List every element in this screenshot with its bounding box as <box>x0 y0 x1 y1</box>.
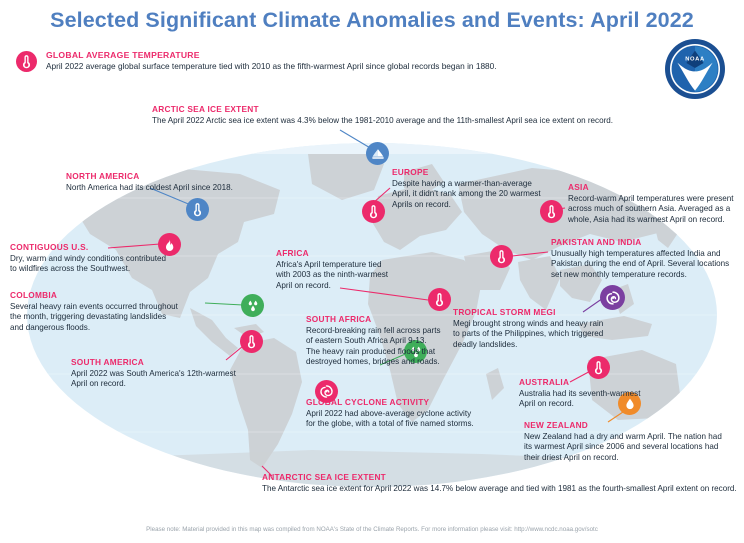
thermometer-icon <box>362 200 385 223</box>
annotation-body: April 2022 was South America's 12th-warm… <box>71 369 236 390</box>
annotation-body-line: Record-breaking rain fell across parts <box>306 326 441 336</box>
annotation-body-line: Africa's April temperature tied <box>276 260 388 270</box>
annotation-body: The April 2022 Arctic sea ice extent was… <box>152 116 613 126</box>
noaa-logo-text: NOAA <box>685 57 705 63</box>
thermometer-icon <box>16 51 37 72</box>
annotation-heading: TROPICAL STORM MEGI <box>453 308 603 318</box>
global-temperature-body: April 2022 average global surface temper… <box>46 61 536 71</box>
annotation-body-line: for the globe, with a total of five name… <box>306 419 474 429</box>
annotation-europe: EUROPE Despite having a warmer-than-aver… <box>392 168 541 210</box>
annotation-arctic-sea-ice-extent: ARCTIC SEA ICE EXTENT The April 2022 Arc… <box>152 105 613 126</box>
annotation-body: Africa's April temperature tied with 200… <box>276 260 388 291</box>
annotation-body-line: Australia had its seventh-warmest <box>519 389 640 399</box>
annotation-body-line: April, it didn't rank among the 20 warme… <box>392 189 541 199</box>
annotation-body: Record-breaking rain fell across parts o… <box>306 326 441 367</box>
annotation-heading: PAKISTAN AND INDIA <box>551 238 729 248</box>
annotation-body: Despite having a warmer-than-average Apr… <box>392 179 541 210</box>
annotation-heading: COLOMBIA <box>10 291 178 301</box>
annotation-heading: GLOBAL CYCLONE ACTIVITY <box>306 398 474 408</box>
annotation-body-line: deadly landslides. <box>453 340 603 350</box>
annotation-south-africa: SOUTH AFRICA Record-breaking rain fell a… <box>306 315 441 367</box>
annotation-pakistan-and-india: PAKISTAN AND INDIA Unusually high temper… <box>551 238 729 280</box>
annotation-body: New Zealand had a dry and warm April. Th… <box>524 432 722 463</box>
annotation-heading: EUROPE <box>392 168 541 178</box>
annotation-body-line: The heavy rain produced floods that <box>306 347 441 357</box>
annotation-body: The Antarctic sea ice extent for April 2… <box>262 484 737 494</box>
annotation-heading: ANTARCTIC SEA ICE EXTENT <box>262 473 737 483</box>
annotation-body-line: with 2003 as the ninth-warmest <box>276 270 388 280</box>
annotation-new-zealand: NEW ZEALAND New Zealand had a dry and wa… <box>524 421 722 463</box>
annotation-antarctic-sea-ice-extent: ANTARCTIC SEA ICE EXTENT The Antarctic s… <box>262 473 737 494</box>
annotation-heading: NORTH AMERICA <box>66 172 233 182</box>
annotation-global-cyclone-activity: GLOBAL CYCLONE ACTIVITY April 2022 had a… <box>306 398 474 430</box>
annotation-body-line: April 2022 had above-average cyclone act… <box>306 409 474 419</box>
annotation-body-line: destroyed homes, bridges and roads. <box>306 357 441 367</box>
annotation-body-line: whole, Asia had its warmest April on rec… <box>568 215 734 225</box>
annotation-tropical-storm-megi: TROPICAL STORM MEGI Megi brought strong … <box>453 308 603 350</box>
annotation-heading: AFRICA <box>276 249 388 259</box>
thermometer-icon <box>587 356 610 379</box>
annotation-body-line: April 2022 was South America's 12th-warm… <box>71 369 236 379</box>
annotation-heading: SOUTH AMERICA <box>71 358 236 368</box>
annotation-body-line: their driest April on record. <box>524 453 722 463</box>
annotation-contiguous-us: CONTIGUOUS U.S. Dry, warm and windy cond… <box>10 243 166 275</box>
thermometer-icon <box>490 245 513 268</box>
annotation-heading: NEW ZEALAND <box>524 421 722 431</box>
annotation-heading: AUSTRALIA <box>519 378 640 388</box>
footer-note: Please note: Material provided in this m… <box>0 526 744 533</box>
annotation-colombia: COLOMBIA Several heavy rain events occur… <box>10 291 178 333</box>
annotation-body: April 2022 had above-average cyclone act… <box>306 409 474 430</box>
annotation-body-line: Unusually high temperatures affected Ind… <box>551 249 729 259</box>
annotation-north-america: NORTH AMERICA North America had its cold… <box>66 172 233 193</box>
annotation-body-line: of eastern South Africa April 9-13. <box>306 336 441 346</box>
annotation-asia: ASIA Record-warm April temperatures were… <box>568 183 734 225</box>
annotation-africa: AFRICA Africa's April temperature tied w… <box>276 249 388 291</box>
annotation-body: Unusually high temperatures affected Ind… <box>551 249 729 280</box>
annotation-body-line: New Zealand had a dry and warm April. Th… <box>524 432 722 442</box>
thermometer-icon <box>540 200 563 223</box>
annotation-body-line: Despite having a warmer-than-average <box>392 179 541 189</box>
annotation-heading: ARCTIC SEA ICE EXTENT <box>152 105 613 115</box>
thermometer-icon <box>240 330 263 353</box>
annotation-body-line: Megi brought strong winds and heavy rain <box>453 319 603 329</box>
cyclone-icon <box>600 285 625 310</box>
page-title: Selected Significant Climate Anomalies a… <box>0 8 744 33</box>
annotation-body: Australia had its seventh-warmest April … <box>519 389 640 410</box>
annotation-body-line: and dangerous floods. <box>10 323 178 333</box>
annotation-body: Record-warm April temperatures were pres… <box>568 194 734 225</box>
thermometer-icon <box>428 288 451 311</box>
annotation-heading: ASIA <box>568 183 734 193</box>
annotation-australia: AUSTRALIA Australia had its seventh-warm… <box>519 378 640 410</box>
noaa-logo: NOAA <box>664 38 726 100</box>
annotation-body-line: the month, triggering devastating landsl… <box>10 312 178 322</box>
annotation-body: Megi brought strong winds and heavy rain… <box>453 319 603 350</box>
raindrops-icon <box>241 294 264 317</box>
global-temperature-heading: GLOBAL AVERAGE TEMPERATURE <box>46 50 536 60</box>
annotation-body-line: April on record. <box>71 379 236 389</box>
iceberg-icon <box>366 142 389 165</box>
infographic-canvas: Selected Significant Climate Anomalies a… <box>0 0 744 543</box>
annotation-body-line: Record-warm April temperatures were pres… <box>568 194 734 204</box>
annotation-body-line: to parts of the Philippines, which trigg… <box>453 329 603 339</box>
annotation-body-line: its warmest April since 2006 and several… <box>524 442 722 452</box>
annotation-body-line: Pakistan during the end of April. Severa… <box>551 259 729 269</box>
annotation-body-line: set new monthly temperature records. <box>551 270 729 280</box>
annotation-body-line: across much of southern Asia. Averaged a… <box>568 204 734 214</box>
annotation-body: Several heavy rain events occurred throu… <box>10 302 178 333</box>
annotation-body-line: April on record. <box>519 399 640 409</box>
annotation-body-line: Dry, warm and windy conditions contribut… <box>10 254 166 264</box>
annotation-heading: SOUTH AFRICA <box>306 315 441 325</box>
annotation-body-line: Aprils on record. <box>392 200 541 210</box>
annotation-body-line: April on record. <box>276 281 388 291</box>
annotation-south-america: SOUTH AMERICA April 2022 was South Ameri… <box>71 358 236 390</box>
thermometer-icon <box>186 198 209 221</box>
annotation-heading: CONTIGUOUS U.S. <box>10 243 166 253</box>
annotation-body-line: Several heavy rain events occurred throu… <box>10 302 178 312</box>
annotation-body-line: to wildfires across the Southwest. <box>10 264 166 274</box>
global-average-temperature-callout: GLOBAL AVERAGE TEMPERATURE April 2022 av… <box>16 50 536 71</box>
annotation-body: North America had its coldest April sinc… <box>66 183 233 193</box>
annotation-body: Dry, warm and windy conditions contribut… <box>10 254 166 275</box>
